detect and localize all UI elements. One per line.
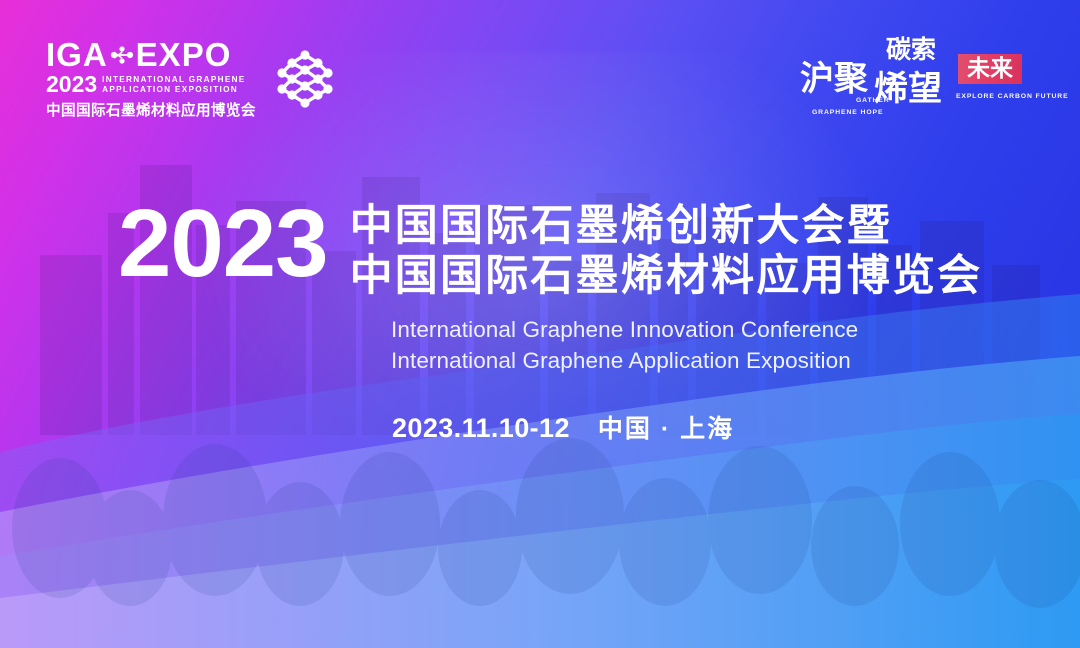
iga-english-line1: INTERNATIONAL GRAPHENE	[102, 75, 245, 85]
iga-expo-logo[interactable]: IGA EXPO	[46, 38, 334, 120]
future-badge: 未来	[958, 54, 1022, 84]
event-location: 中国 · 上海	[598, 409, 734, 445]
conference-poster: IGA EXPO	[0, 0, 1080, 648]
iga-english-line2: APPLICATION EXPOSITION	[102, 85, 245, 95]
slogan-cn-hu: 沪聚	[800, 62, 868, 96]
iga-wordmark: IGA EXPO	[46, 38, 256, 71]
slogan-lockup[interactable]: 沪聚 烯望 碳索 未来 GATHER GRAPHENE HOPE EXPLORE…	[800, 36, 1046, 118]
iga-wordmark-iga: IGA	[46, 38, 108, 71]
iga-logo-year: 2023	[46, 73, 97, 96]
headline-cn-line2: 中国国际石墨烯材料应用博览会	[350, 251, 983, 301]
event-date: 2023.11.10-12	[392, 413, 570, 444]
iga-subline-row: 2023 INTERNATIONAL GRAPHENE APPLICATION …	[46, 73, 256, 96]
headline-year: 2023	[118, 197, 328, 291]
event-meta-row: 2023.11.10-12 中国 · 上海	[392, 409, 734, 445]
slogan-en-gather: GATHER	[856, 96, 890, 105]
iga-wordmark-expo: EXPO	[136, 38, 232, 71]
headline-english-lines: International Graphene Innovation Confer…	[391, 315, 858, 376]
headline-en-line1: International Graphene Innovation Confer…	[391, 315, 858, 346]
headline-block: 2023 中国国际石墨烯创新大会暨 中国国际石墨烯材料应用博览会	[118, 197, 982, 302]
foliage-silhouette	[0, 348, 1080, 648]
headline-chinese-lines: 中国国际石墨烯创新大会暨 中国国际石墨烯材料应用博览会	[350, 197, 983, 302]
slogan-en-explore: EXPLORE CARBON FUTURE	[956, 92, 1069, 101]
iga-logo-english: INTERNATIONAL GRAPHENE APPLICATION EXPOS…	[102, 75, 245, 96]
headline-cn-line1: 中国国际石墨烯创新大会暨	[350, 201, 983, 251]
molecule-dot-icon	[109, 42, 135, 68]
headline-en-line2: International Graphene Application Expos…	[391, 346, 858, 377]
iga-logo-chinese: 中国国际石墨烯材料应用博览会	[46, 99, 256, 120]
slogan-en-hope: GRAPHENE HOPE	[812, 108, 883, 117]
slogan-cn-tan: 碳索	[886, 38, 936, 63]
graphene-hex-lattice-icon	[276, 49, 334, 109]
iga-logo-text-block: IGA EXPO	[46, 38, 256, 120]
